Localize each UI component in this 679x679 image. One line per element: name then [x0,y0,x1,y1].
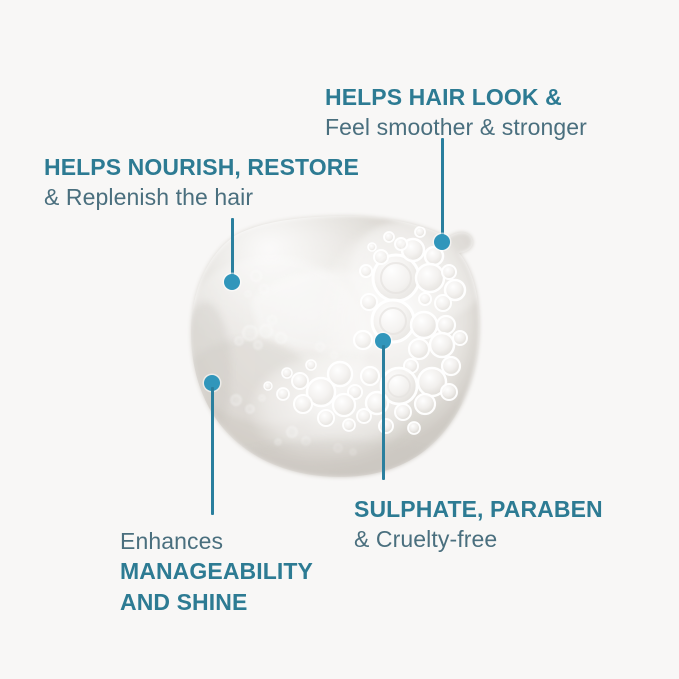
callout-dot-helps-nourish[interactable] [224,274,240,290]
infographic-canvas: HELPS HAIR LOOK & Feel smoother & strong… [0,0,679,679]
callout-heading: HELPS NOURISH, RESTORE [44,152,359,182]
callout-helps-hair-look: HELPS HAIR LOOK & Feel smoother & strong… [325,82,587,143]
callout-subtext: Feel smoother & stronger [325,112,587,142]
callout-dot-helps-hair-look[interactable] [434,234,450,250]
callout-heading-line-1: MANAGEABILITY [120,556,313,586]
callout-manageability-shine: Enhances MANAGEABILITY AND SHINE [120,526,313,617]
connector-manageability-shine [204,375,220,520]
callout-heading: HELPS HAIR LOOK & [325,82,587,112]
connector-stem [441,138,444,242]
callout-heading: SULPHATE, PARABEN [354,494,603,524]
callout-subtext: & Cruelty-free [354,524,603,554]
connector-sulphate-paraben [375,333,391,483]
callout-subtext: & Replenish the hair [44,182,359,212]
callout-subtext: Enhances [120,526,313,556]
connector-stem [382,345,385,480]
connector-helps-hair-look [434,138,450,262]
connector-stem [211,387,214,515]
connector-helps-nourish [224,218,240,306]
callout-sulphate-paraben: SULPHATE, PARABEN & Cruelty-free [354,494,603,555]
callout-helps-nourish: HELPS NOURISH, RESTORE & Replenish the h… [44,152,359,213]
callout-heading-line-2: AND SHINE [120,587,313,617]
